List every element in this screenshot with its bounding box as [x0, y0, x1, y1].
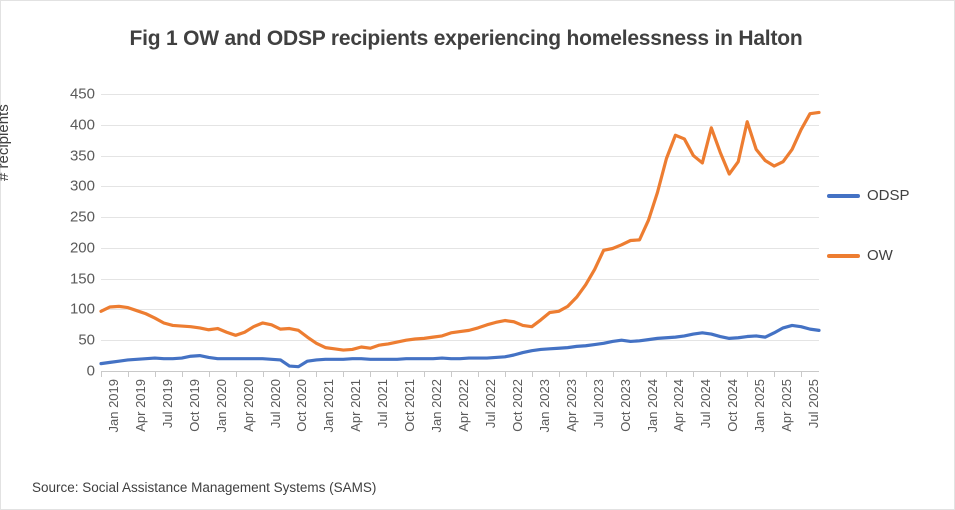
x-axis-tick-labels: Jan 2019Apr 2019Jul 2019Oct 2019Jan 2020…: [101, 379, 819, 459]
x-axis-tick-label: Jul 2023: [591, 379, 606, 428]
y-axis-tick-label: 350: [39, 147, 95, 164]
x-axis-tick-mark: [155, 371, 156, 377]
x-axis-tick-mark: [289, 371, 290, 377]
x-axis-tick-mark: [370, 371, 371, 377]
x-axis-tick-mark: [182, 371, 183, 377]
x-axis-tick-label: Jan 2024: [645, 379, 660, 433]
x-axis-tick-label: Apr 2019: [133, 379, 148, 432]
x-axis-tick-mark: [316, 371, 317, 377]
x-axis-tick-label: Apr 2022: [456, 379, 471, 432]
chart-legend: ODSPOW: [827, 187, 947, 287]
x-axis-tick-label: Jan 2025: [752, 379, 767, 433]
x-axis-tick-label: Jul 2019: [160, 379, 175, 428]
y-axis-tick-label: 450: [39, 86, 95, 103]
plot-area: [101, 94, 819, 371]
x-axis-ticks: [101, 371, 819, 377]
x-axis-tick-mark: [613, 371, 614, 377]
x-axis-tick-mark: [236, 371, 237, 377]
y-axis-tick-label: 300: [39, 178, 95, 195]
x-axis-tick-label: Apr 2024: [671, 379, 686, 432]
x-axis-tick-label: Oct 2020: [294, 379, 309, 432]
y-axis-tick-label: 0: [39, 363, 95, 380]
source-note: Source: Social Assistance Management Sys…: [32, 480, 376, 495]
legend-swatch-odsp: [827, 194, 860, 198]
x-axis-tick-label: Jan 2022: [429, 379, 444, 433]
x-axis-tick-label: Oct 2019: [187, 379, 202, 432]
x-axis-tick-label: Jul 2021: [375, 379, 390, 428]
x-axis-tick-mark: [209, 371, 210, 377]
x-axis-tick-label: Jul 2020: [268, 379, 283, 428]
chart-title: Fig 1 OW and ODSP recipients experiencin…: [96, 25, 836, 53]
y-axis-tick-label: 250: [39, 209, 95, 226]
y-axis-title: # recipients: [0, 104, 12, 181]
x-axis-tick-label: Apr 2021: [348, 379, 363, 432]
x-axis-tick-mark: [586, 371, 587, 377]
x-axis-tick-mark: [774, 371, 775, 377]
y-axis-tick-label: 50: [39, 332, 95, 349]
legend-swatch-ow: [827, 254, 860, 258]
x-axis-tick-label: Jan 2019: [106, 379, 121, 433]
x-axis-tick-label: Oct 2022: [510, 379, 525, 432]
series-line-ow: [101, 112, 819, 350]
legend-entry-ow[interactable]: OW: [827, 247, 893, 264]
x-axis-tick-label: Jul 2025: [806, 379, 821, 428]
y-axis-tick-label: 100: [39, 301, 95, 318]
x-axis-tick-mark: [640, 371, 641, 377]
x-axis-tick-mark: [720, 371, 721, 377]
x-axis-tick-mark: [451, 371, 452, 377]
x-axis-tick-mark: [101, 371, 102, 377]
series-lines: [101, 94, 819, 371]
y-axis-tick-label: 400: [39, 116, 95, 133]
x-axis-tick-mark: [263, 371, 264, 377]
legend-label-odsp: ODSP: [867, 187, 910, 204]
x-axis-tick-mark: [424, 371, 425, 377]
x-axis-tick-label: Jul 2022: [483, 379, 498, 428]
x-axis-tick-label: Oct 2021: [402, 379, 417, 432]
x-axis-tick-mark: [693, 371, 694, 377]
y-axis-tick-labels: 050100150200250300350400450: [39, 84, 95, 381]
x-axis-tick-label: Apr 2020: [241, 379, 256, 432]
x-axis-tick-mark: [128, 371, 129, 377]
y-axis-tick-label: 200: [39, 239, 95, 256]
x-axis-tick-mark: [397, 371, 398, 377]
x-axis-tick-mark: [801, 371, 802, 377]
x-axis-tick-mark: [747, 371, 748, 377]
y-axis-tick-label: 150: [39, 270, 95, 287]
x-axis-tick-label: Apr 2025: [779, 379, 794, 432]
chart-figure: Fig 1 OW and ODSP recipients experiencin…: [0, 0, 955, 510]
x-axis-tick-mark: [478, 371, 479, 377]
x-axis-tick-label: Jan 2021: [321, 379, 336, 433]
x-axis-tick-mark: [532, 371, 533, 377]
x-axis-tick-label: Oct 2024: [725, 379, 740, 432]
x-axis-tick-label: Jan 2020: [214, 379, 229, 433]
legend-label-ow: OW: [867, 247, 893, 264]
x-axis-tick-label: Apr 2023: [564, 379, 579, 432]
x-axis-tick-label: Jan 2023: [537, 379, 552, 433]
x-axis-tick-mark: [343, 371, 344, 377]
x-axis-tick-label: Jul 2024: [698, 379, 713, 428]
x-axis-tick-mark: [505, 371, 506, 377]
x-axis-tick-mark: [666, 371, 667, 377]
legend-entry-odsp[interactable]: ODSP: [827, 187, 910, 204]
x-axis-tick-label: Oct 2023: [618, 379, 633, 432]
x-axis-tick-mark: [559, 371, 560, 377]
